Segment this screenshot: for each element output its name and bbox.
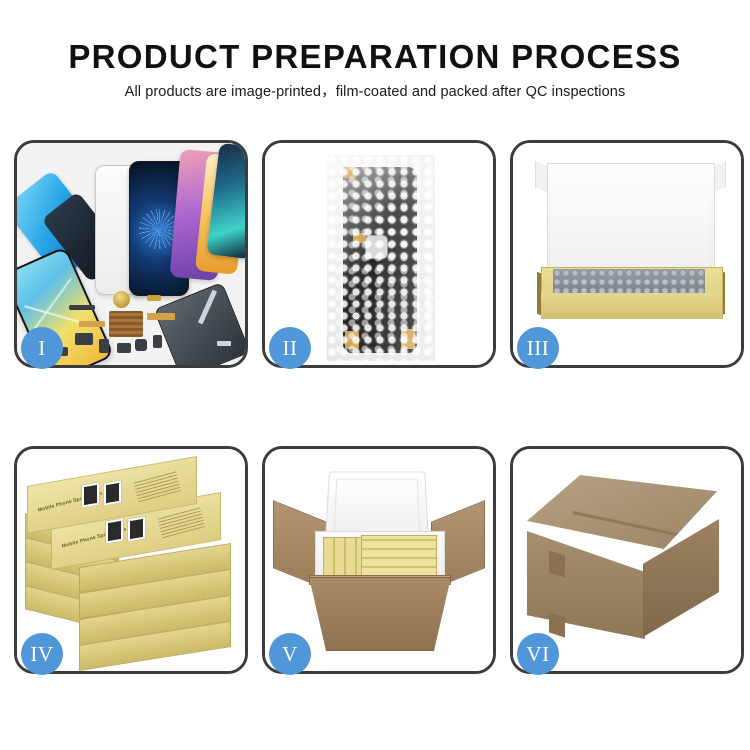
screwdriver-tool	[217, 341, 231, 346]
button-component	[135, 339, 147, 351]
small-component	[99, 339, 109, 353]
speaker-module	[113, 291, 130, 308]
gold-contact	[147, 295, 161, 301]
process-step-6: VI	[510, 446, 744, 674]
process-step-1: I	[14, 140, 248, 368]
carton-tape-lower	[549, 612, 565, 637]
process-step-3: III	[510, 140, 744, 368]
antenna-strip	[69, 305, 95, 310]
product-preparation-infographic: PRODUCT PREPARATION PROCESS All products…	[0, 0, 750, 750]
box-window-1b	[103, 479, 122, 506]
step-4-number-badge: IV	[21, 633, 63, 675]
process-step-2: II	[262, 140, 496, 368]
process-step-5: V	[262, 446, 496, 674]
page-subtitle: All products are image-printed，film-coat…	[0, 85, 750, 100]
connector-chip	[153, 335, 162, 348]
header: PRODUCT PREPARATION PROCESS All products…	[0, 0, 750, 100]
step-5-number-badge: V	[269, 633, 311, 675]
white-foam-liner	[551, 201, 709, 273]
flex-cable-2	[79, 321, 105, 327]
box-window-2a	[105, 517, 124, 544]
process-step-4: Mobile Phone Spare Parts Mobile Phone Sp…	[14, 446, 248, 674]
box-window-2b	[127, 515, 146, 542]
page-title: PRODUCT PREPARATION PROCESS	[0, 40, 750, 73]
step-1-number-badge: I	[21, 327, 63, 369]
step-3-number-badge: III	[517, 327, 559, 369]
logic-board	[109, 311, 143, 337]
vibration-motor	[117, 343, 131, 353]
yellow-box-front	[541, 293, 721, 319]
flex-cable	[147, 313, 175, 320]
camera-module	[75, 333, 93, 345]
plastic-sheen	[327, 155, 435, 361]
process-steps-grid: I II	[14, 140, 736, 674]
box-stack: Mobile Phone Spare Parts Mobile Phone Sp…	[23, 463, 239, 661]
box-window-1a	[81, 481, 100, 508]
carton-left-face	[527, 531, 645, 639]
step-6-number-badge: VI	[517, 633, 559, 675]
step-2-number-badge: II	[269, 327, 311, 369]
cardboard-carton-body	[309, 577, 451, 651]
